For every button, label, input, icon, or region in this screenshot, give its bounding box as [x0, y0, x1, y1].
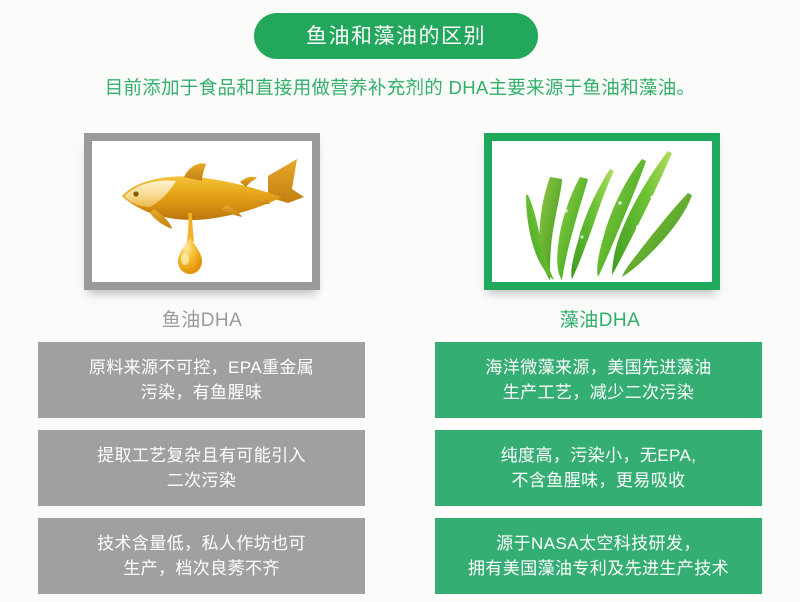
algae-oil-point-2: 纯度高，污染小，无EPA, 不含鱼腥味，更易吸收 — [435, 430, 762, 506]
infographic-page: 鱼油和藻油的区别 目前添加于食品和直接用做营养补充剂的 DHA主要来源于鱼油和藻… — [0, 0, 800, 602]
page-title-banner: 鱼油和藻油的区别 — [254, 13, 538, 59]
algae-oil-point-2-line-1: 纯度高，污染小，无EPA, — [501, 443, 697, 469]
fish-oil-point-2: 提取工艺复杂且有可能引入 二次污染 — [38, 430, 365, 506]
algae-oil-point-1: 海洋微藻来源，美国先进藻油 生产工艺，减少二次污染 — [435, 342, 762, 418]
comparison-columns: 原料来源不可控，EPA重金属 污染，有鱼腥味 提取工艺复杂且有可能引入 二次污染… — [0, 342, 800, 594]
algae-leaves-icon — [492, 141, 712, 282]
algae-oil-points-column: 海洋微藻来源，美国先进藻油 生产工艺，减少二次污染 纯度高，污染小，无EPA, … — [435, 342, 762, 594]
algae-oil-point-2-line-2: 不含鱼腥味，更易吸收 — [501, 468, 697, 494]
fish-oil-point-1-line-1: 原料来源不可控，EPA重金属 — [89, 355, 314, 381]
fish-oil-point-1-line-2: 污染，有鱼腥味 — [89, 380, 314, 406]
algae-oil-point-3-line-1: 源于NASA太空科技研发， — [468, 531, 729, 557]
fish-oil-point-2-line-2: 二次污染 — [97, 468, 306, 494]
fish-oil-image-frame — [84, 133, 320, 290]
algae-oil-caption: 藻油DHA — [450, 305, 750, 332]
fish-oil-point-3-line-2: 生产，档次良莠不齐 — [97, 556, 306, 582]
fish-oil-point-2-line-1: 提取工艺复杂且有可能引入 — [97, 443, 306, 469]
page-title: 鱼油和藻油的区别 — [306, 26, 486, 47]
page-subtitle: 目前添加于食品和直接用做营养补充剂的 DHA主要来源于鱼油和藻油。 — [0, 74, 800, 100]
fish-oil-points-column: 原料来源不可控，EPA重金属 污染，有鱼腥味 提取工艺复杂且有可能引入 二次污染… — [38, 342, 365, 594]
fish-oil-point-3-line-1: 技术含量低，私人作坊也可 — [97, 531, 306, 557]
algae-oil-point-3-line-2: 拥有美国藻油专利及先进生产技术 — [468, 556, 729, 582]
fish-oil-point-1: 原料来源不可控，EPA重金属 污染，有鱼腥味 — [38, 342, 365, 418]
fish-oil-point-3: 技术含量低，私人作坊也可 生产，档次良莠不齐 — [38, 518, 365, 594]
fish-oil-photo — [92, 141, 312, 282]
algae-oil-point-1-line-2: 生产工艺，减少二次污染 — [485, 380, 711, 406]
algae-photo — [492, 141, 712, 282]
algae-oil-point-3: 源于NASA太空科技研发， 拥有美国藻油专利及先进生产技术 — [435, 518, 762, 594]
algae-image-frame — [484, 133, 720, 290]
fish-icon — [92, 141, 312, 282]
fish-oil-caption: 鱼油DHA — [52, 305, 352, 332]
algae-oil-point-1-line-1: 海洋微藻来源，美国先进藻油 — [485, 355, 711, 381]
